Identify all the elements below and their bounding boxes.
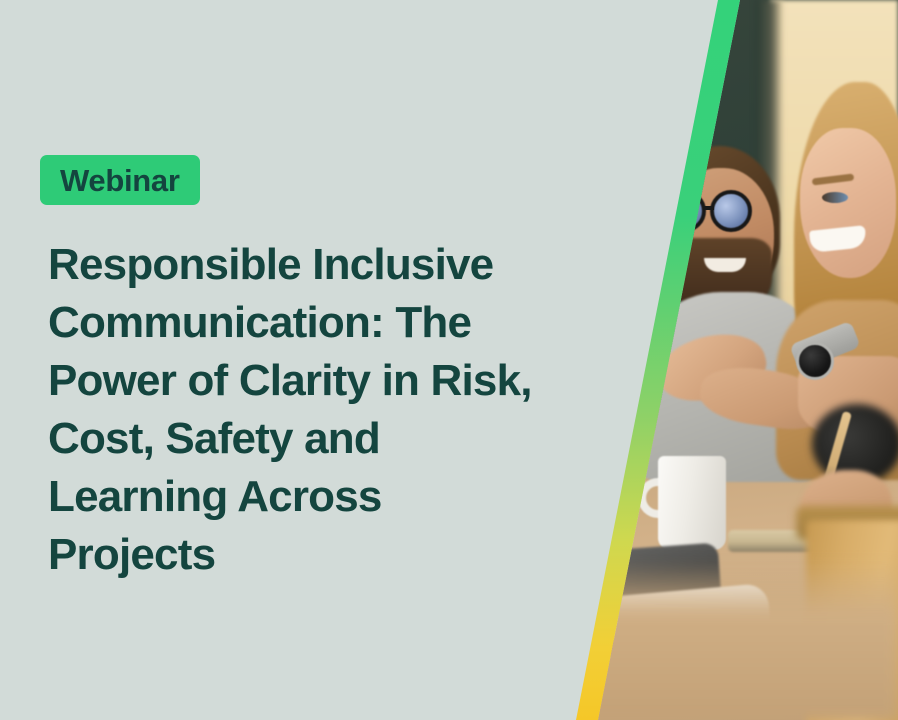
- smartwatch-face: [796, 342, 834, 380]
- page-title-line-1: Responsible Inclusive: [48, 236, 628, 294]
- woman-eye: [822, 192, 848, 203]
- page-title-line-2: Communication: The: [48, 294, 628, 352]
- woman-face: [800, 128, 896, 278]
- page-title-line-4: Cost, Safety and: [48, 410, 628, 468]
- page-title-line-5: Learning Across: [48, 468, 628, 526]
- text-panel: Webinar Responsible Inclusive Communicat…: [0, 0, 640, 720]
- eyeglasses-bridge: [704, 206, 714, 210]
- eyeglasses-right-lens: [710, 190, 752, 232]
- page-title-line-3: Power of Clarity in Risk,: [48, 352, 628, 410]
- webinar-promo-card: Webinar Responsible Inclusive Communicat…: [0, 0, 898, 720]
- category-badge-label: Webinar: [60, 165, 180, 196]
- category-badge: Webinar: [40, 155, 200, 205]
- coffee-mug: [658, 456, 726, 550]
- page-title-line-6: Projects: [48, 526, 628, 584]
- page-title: Responsible Inclusive Communication: The…: [48, 236, 628, 584]
